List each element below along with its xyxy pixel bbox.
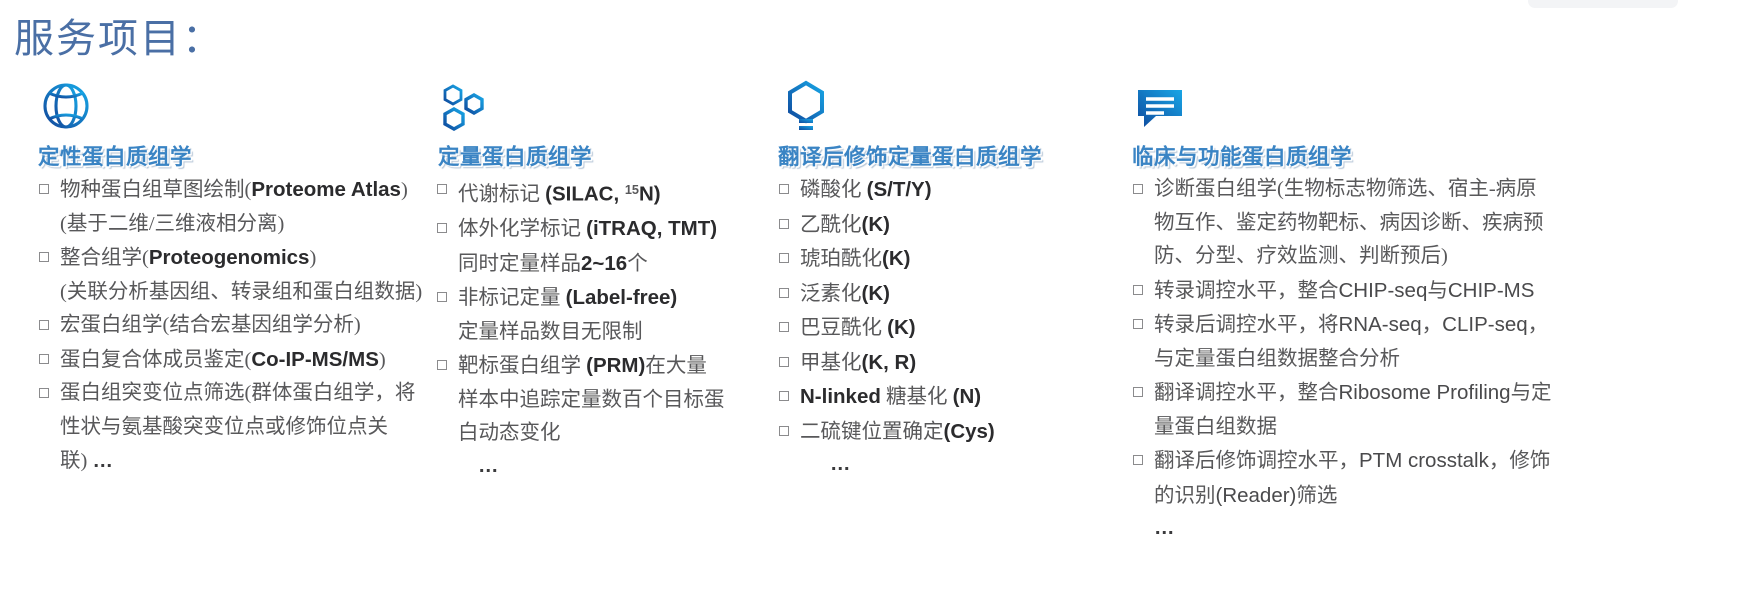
item-first-line: 非标记定量 (Label-free) xyxy=(458,281,768,316)
item-continuation-line: 性状与氨基酸突变位点或修饰位点关 xyxy=(60,411,432,445)
item-first-line: 二硫键位置确定(Cys) xyxy=(800,415,1120,450)
column-heading: 临床与功能蛋白质组学 xyxy=(1132,140,1758,171)
text-run: 2~16 xyxy=(581,252,627,275)
item-first-line: 翻译后修饰调控水平，PTM crosstalk，修饰 xyxy=(1154,444,1758,479)
text-run: 性状与氨基酸突变位点或修饰位点关 xyxy=(60,416,388,438)
item-continuation-line: 样本中追踪定量数百个目标蛋 xyxy=(458,384,768,418)
service-item[interactable]: 翻译调控水平，整合Ribosome Profiling与定量蛋白组数据 xyxy=(1132,376,1758,444)
item-continuation-line: (基于二维/三维液相分离) xyxy=(60,208,432,242)
service-item[interactable]: 蛋白复合体成员鉴定(Co-IP-MS/MS) xyxy=(38,343,432,378)
text-run: 琥珀酰化 xyxy=(800,248,882,270)
checkbox-square-icon[interactable] xyxy=(1133,455,1143,465)
item-continuation-line: (关联分析基因组、转录组和蛋白组数据) xyxy=(60,276,432,310)
text-run: 糖基化 xyxy=(881,386,953,408)
service-item[interactable]: 宏蛋白组学(结合宏基因组学分析) xyxy=(38,309,432,343)
checkbox-square-icon[interactable] xyxy=(779,219,789,229)
ellipsis-marker: … xyxy=(478,454,500,477)
text-run: 筛选 xyxy=(1296,485,1337,507)
text-run: 与定 xyxy=(1511,382,1552,404)
trailing-ellipsis: … xyxy=(1132,513,1758,543)
text-run: 整合组学( xyxy=(60,247,149,269)
item-continuation-line: 的识别(Reader)筛选 xyxy=(1154,479,1758,514)
trailing-ellipsis: … xyxy=(778,449,1120,479)
text-run: 样本中追踪定量数百个目标蛋 xyxy=(458,389,725,411)
service-item[interactable]: 物种蛋白组草图绘制(Proteome Atlas)(基于二维/三维液相分离) xyxy=(38,173,432,241)
checkbox-square-icon[interactable] xyxy=(39,252,49,262)
item-continuation-line: 联) … xyxy=(60,444,432,479)
service-item[interactable]: 蛋白组突变位点筛选(群体蛋白组学，将性状与氨基酸突变位点或修饰位点关联) … xyxy=(38,377,432,479)
checkbox-square-icon[interactable] xyxy=(779,391,789,401)
text-run: 的识别 xyxy=(1154,485,1216,507)
checkbox-square-icon[interactable] xyxy=(1133,387,1143,397)
text-run: 与 xyxy=(1427,280,1448,302)
text-run: (Reader) xyxy=(1216,484,1297,507)
text-run: (K) xyxy=(882,247,910,270)
item-first-line: 物种蛋白组草图绘制(Proteome Atlas) xyxy=(60,173,432,208)
text-run: 蛋白组突变位点筛选(群体蛋白组学，将 xyxy=(60,382,415,404)
text-run: 诊断蛋白组学(生物标志物筛选、宿主-病原 xyxy=(1154,178,1537,200)
text-run: Proteogenomics xyxy=(149,246,310,269)
service-column: 翻译后修饰定量蛋白质组学磷酸化 (S/T/Y)乙酰化(K)琥珀酰化(K)泛素化(… xyxy=(768,78,1120,479)
text-run: ， xyxy=(1528,314,1549,336)
text-run: CHIP-MS xyxy=(1448,279,1535,302)
text-run: CHIP-seq xyxy=(1339,279,1428,302)
service-item[interactable]: 乙酰化(K) xyxy=(778,208,1120,243)
item-first-line: N-linked 糖基化 (N) xyxy=(800,380,1120,415)
text-run: 转录调控水平，整合 xyxy=(1154,280,1339,302)
service-item[interactable]: 靶标蛋白组学 (PRM)在大量样本中追踪定量数百个目标蛋白动态变化 xyxy=(436,349,768,451)
text-run: (PRM) xyxy=(586,354,645,377)
item-continuation-line: 量蛋白组数据 xyxy=(1154,411,1758,445)
text-run: 非标记定量 xyxy=(458,287,566,309)
service-item[interactable]: 代谢标记 (SILAC, 15N) xyxy=(436,173,768,212)
text-run: 定量样品数目无限制 xyxy=(458,321,643,343)
checkbox-square-icon[interactable] xyxy=(1133,285,1143,295)
text-run: (iTRAQ, TMT) xyxy=(586,217,717,240)
checkbox-square-icon[interactable] xyxy=(39,184,49,194)
text-run: (Cys) xyxy=(944,420,995,443)
text-run: 物种蛋白组草图绘制( xyxy=(60,179,251,201)
service-item[interactable]: 体外化学标记 (iTRAQ, TMT)同时定量样品2~16个 xyxy=(436,212,768,281)
page-title: 服务项目： xyxy=(14,6,224,64)
text-run: 宏蛋白组学(结合宏基因组学分析) xyxy=(60,314,361,336)
service-item[interactable]: N-linked 糖基化 (N) xyxy=(778,380,1120,415)
item-first-line: 宏蛋白组学(结合宏基因组学分析) xyxy=(60,309,432,343)
checkbox-square-icon[interactable] xyxy=(39,320,49,330)
text-run: Ribosome Profiling xyxy=(1339,381,1511,404)
item-continuation-line: 防、分型、疗效监测、判断预后) xyxy=(1154,240,1758,274)
item-first-line: 琥珀酰化(K) xyxy=(800,242,1120,277)
molecule-hexagons-icon xyxy=(436,78,768,140)
text-run: 白动态变化 xyxy=(458,422,561,444)
text-run: 与定量蛋白组数据整合分析 xyxy=(1154,348,1400,370)
text-run: 同时定量样品 xyxy=(458,253,581,275)
text-run: (关联分析基因组、转录组和蛋白组数据) xyxy=(60,281,422,303)
text-run: (N) xyxy=(953,385,981,408)
checkbox-square-icon[interactable] xyxy=(1133,184,1143,194)
service-column: 临床与功能蛋白质组学诊断蛋白组学(生物标志物筛选、宿主-病原物互作、鉴定药物靶标… xyxy=(1120,78,1758,543)
text-run: ， xyxy=(1422,314,1443,336)
text-run: N-linked xyxy=(800,385,881,408)
item-first-line: 转录调控水平，整合CHIP-seq与CHIP-MS xyxy=(1154,274,1758,309)
item-first-line: 转录后调控水平，将RNA-seq，CLIP-seq， xyxy=(1154,308,1758,343)
hexagon-bulb-icon xyxy=(778,78,1120,140)
checkbox-square-icon[interactable] xyxy=(437,360,447,370)
service-item[interactable]: 转录后调控水平，将RNA-seq，CLIP-seq，与定量蛋白组数据整合分析 xyxy=(1132,308,1758,376)
service-item-list: 物种蛋白组草图绘制(Proteome Atlas)(基于二维/三维液相分离)整合… xyxy=(38,173,432,479)
service-column: 定量蛋白质组学代谢标记 (SILAC, 15N)体外化学标记 (iTRAQ, T… xyxy=(432,78,768,481)
service-item[interactable]: 非标记定量 (Label-free)定量样品数目无限制 xyxy=(436,281,768,349)
text-run: 翻译后修饰调控水平， xyxy=(1154,450,1359,472)
text-run: 联) xyxy=(60,450,92,472)
text-run: Co-IP-MS/MS xyxy=(251,348,379,371)
trailing-ellipsis: … xyxy=(436,451,768,481)
item-continuation-line: 同时定量样品2~16个 xyxy=(458,247,768,282)
item-first-line: 蛋白组突变位点筛选(群体蛋白组学，将 xyxy=(60,377,432,411)
text-run: 二硫键位置确定 xyxy=(800,421,944,443)
service-column: 定性蛋白质组学物种蛋白组草图绘制(Proteome Atlas)(基于二维/三维… xyxy=(0,78,432,479)
text-run: 个 xyxy=(627,253,648,275)
text-run: 翻译调控水平，整合 xyxy=(1154,382,1339,404)
item-first-line: 甲基化(K, R) xyxy=(800,346,1120,381)
item-first-line: 整合组学(Proteogenomics) xyxy=(60,241,432,276)
checkbox-square-icon[interactable] xyxy=(779,426,789,436)
text-run: 量蛋白组数据 xyxy=(1154,416,1277,438)
globe-icon xyxy=(38,78,432,140)
item-first-line: 蛋白复合体成员鉴定(Co-IP-MS/MS) xyxy=(60,343,432,378)
decorative-rounded-strip xyxy=(1528,0,1678,8)
ellipsis-marker: … xyxy=(92,449,114,472)
text-run: 蛋白复合体成员鉴定( xyxy=(60,349,251,371)
text-run: 代谢标记 xyxy=(458,184,545,206)
checkbox-square-icon[interactable] xyxy=(437,292,447,302)
item-first-line: 体外化学标记 (iTRAQ, TMT) xyxy=(458,212,768,247)
service-columns: 定性蛋白质组学物种蛋白组草图绘制(Proteome Atlas)(基于二维/三维… xyxy=(0,78,1758,543)
text-run: 转录后调控水平，将 xyxy=(1154,314,1339,336)
text-run: (基于二维/三维液相分离) xyxy=(60,213,284,235)
text-run: PTM crosstalk xyxy=(1359,449,1489,472)
checkbox-square-icon[interactable] xyxy=(779,288,789,298)
column-heading: 定性蛋白质组学 xyxy=(38,140,432,171)
text-run: 甲基化 xyxy=(800,352,862,374)
text-run: Proteome Atlas xyxy=(251,178,401,201)
checkbox-square-icon[interactable] xyxy=(39,354,49,364)
text-run: 防、分型、疗效监测、判断预后) xyxy=(1154,245,1448,267)
text-run: (Label-free) xyxy=(566,286,678,309)
text-run: RNA-seq xyxy=(1339,313,1422,336)
checkbox-square-icon[interactable] xyxy=(437,223,447,233)
isotope-superscript: 15 xyxy=(625,182,639,197)
item-first-line: 磷酸化 (S/T/Y) xyxy=(800,173,1120,208)
item-continuation-line: 白动态变化 xyxy=(458,417,768,451)
service-item-list: 诊断蛋白组学(生物标志物筛选、宿主-病原物互作、鉴定药物靶标、病因诊断、疾病预防… xyxy=(1132,173,1758,513)
item-first-line: 靶标蛋白组学 (PRM)在大量 xyxy=(458,349,768,384)
checkbox-square-icon[interactable] xyxy=(779,184,789,194)
service-item-list: 磷酸化 (S/T/Y)乙酰化(K)琥珀酰化(K)泛素化(K)巴豆酰化 (K)甲基… xyxy=(778,173,1120,449)
text-run: ) xyxy=(379,349,386,371)
item-first-line: 巴豆酰化 (K) xyxy=(800,311,1120,346)
service-item[interactable]: 磷酸化 (S/T/Y) xyxy=(778,173,1120,208)
checkbox-square-icon[interactable] xyxy=(779,322,789,332)
checkbox-square-icon[interactable] xyxy=(1133,319,1143,329)
service-item[interactable]: 甲基化(K, R) xyxy=(778,346,1120,381)
item-continuation-line: 定量样品数目无限制 xyxy=(458,316,768,350)
item-continuation-line: 物互作、鉴定药物靶标、病因诊断、疾病预 xyxy=(1154,207,1758,241)
ellipsis-marker: … xyxy=(830,452,852,475)
service-item[interactable]: 翻译后修饰调控水平，PTM crosstalk，修饰的识别(Reader)筛选 xyxy=(1132,444,1758,513)
item-continuation-line: 与定量蛋白组数据整合分析 xyxy=(1154,343,1758,377)
text-run: (K) xyxy=(862,213,890,236)
service-item[interactable]: 琥珀酰化(K) xyxy=(778,242,1120,277)
text-run: (S/T/Y) xyxy=(867,178,932,201)
column-heading: 翻译后修饰定量蛋白质组学 xyxy=(778,140,1120,171)
service-item[interactable]: 泛素化(K) xyxy=(778,277,1120,312)
checkbox-square-icon[interactable] xyxy=(779,253,789,263)
service-item-list: 代谢标记 (SILAC, 15N)体外化学标记 (iTRAQ, TMT)同时定量… xyxy=(436,173,768,451)
speech-bubble-icon xyxy=(1132,78,1758,140)
text-run: (K, R) xyxy=(862,351,917,374)
text-run: ) xyxy=(401,179,408,201)
checkbox-square-icon[interactable] xyxy=(437,184,447,194)
text-run: CLIP-seq xyxy=(1442,313,1527,336)
checkbox-square-icon[interactable] xyxy=(39,388,49,398)
item-first-line: 乙酰化(K) xyxy=(800,208,1120,243)
text-run: 乙酰化 xyxy=(800,214,862,236)
item-first-line: 代谢标记 (SILAC, 15N) xyxy=(458,173,768,212)
text-run: 物互作、鉴定药物靶标、病因诊断、疾病预 xyxy=(1154,212,1544,234)
item-first-line: 泛素化(K) xyxy=(800,277,1120,312)
service-item[interactable]: 诊断蛋白组学(生物标志物筛选、宿主-病原物互作、鉴定药物靶标、病因诊断、疾病预防… xyxy=(1132,173,1758,274)
item-first-line: 诊断蛋白组学(生物标志物筛选、宿主-病原 xyxy=(1154,173,1758,207)
text-run: 体外化学标记 xyxy=(458,218,586,240)
text-run: (SILAC, xyxy=(545,183,625,206)
text-run: 靶标蛋白组学 xyxy=(458,355,586,377)
service-item[interactable]: 巴豆酰化 (K) xyxy=(778,311,1120,346)
text-run: N) xyxy=(639,183,661,206)
text-run: ，修饰 xyxy=(1489,450,1551,472)
text-run: (K) xyxy=(887,316,915,339)
service-item[interactable]: 二硫键位置确定(Cys) xyxy=(778,415,1120,450)
text-run: 巴豆酰化 xyxy=(800,317,887,339)
checkbox-square-icon[interactable] xyxy=(779,357,789,367)
text-run: 在大量 xyxy=(645,355,707,377)
text-run: (K) xyxy=(862,282,890,305)
item-first-line: 翻译调控水平，整合Ribosome Profiling与定 xyxy=(1154,376,1758,411)
column-heading: 定量蛋白质组学 xyxy=(438,140,768,171)
service-item[interactable]: 转录调控水平，整合CHIP-seq与CHIP-MS xyxy=(1132,274,1758,309)
text-run: ) xyxy=(309,247,316,269)
text-run: 磷酸化 xyxy=(800,179,867,201)
service-item[interactable]: 整合组学(Proteogenomics)(关联分析基因组、转录组和蛋白组数据) xyxy=(38,241,432,309)
text-run: 泛素化 xyxy=(800,283,862,305)
ellipsis-marker: … xyxy=(1154,516,1176,539)
